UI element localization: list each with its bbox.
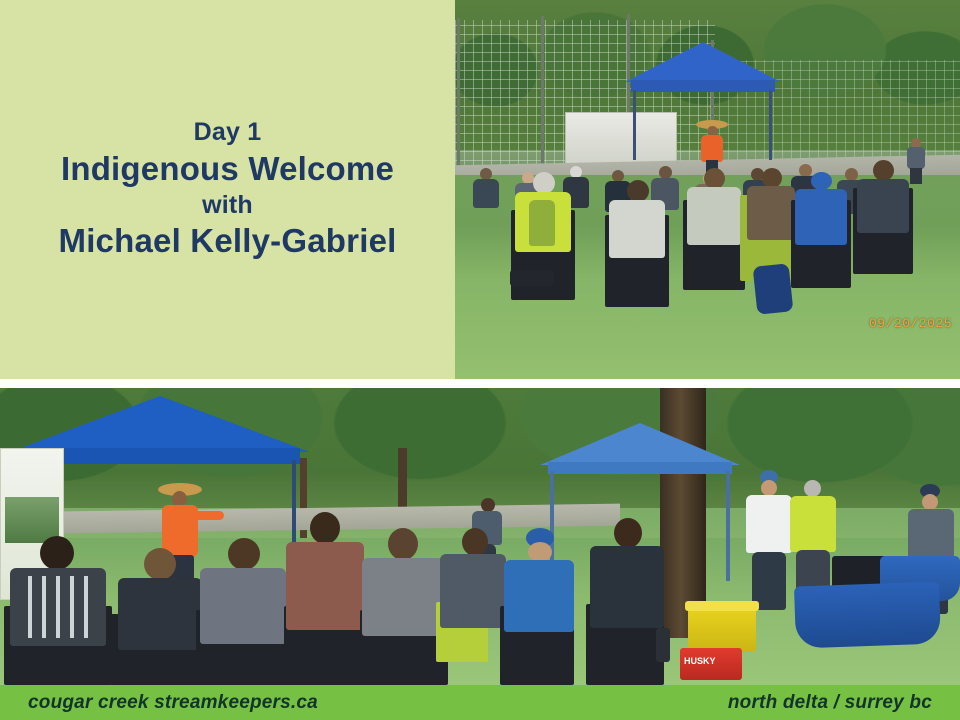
footer-bar: cougar creek streamkeepers.ca north delt…	[0, 685, 960, 720]
blue-canopy-tent	[625, 42, 780, 104]
yellow-tool-case	[688, 608, 756, 652]
torso	[857, 179, 909, 233]
baseball-cap	[811, 172, 832, 190]
blue-shirt	[504, 560, 574, 632]
head	[310, 512, 340, 544]
canopy-roof	[540, 423, 740, 465]
head	[462, 528, 488, 556]
head	[627, 180, 649, 202]
water-bottle	[656, 628, 670, 662]
head	[528, 542, 552, 562]
seated-attendee-hi-vis	[513, 172, 573, 268]
torso	[473, 179, 499, 208]
blue-wheelbarrow-front	[794, 581, 941, 648]
head	[873, 160, 894, 181]
blue-backpack	[753, 263, 794, 315]
seated-attendee	[200, 538, 286, 644]
footer-right-text: north delta / surrey bc	[728, 692, 932, 714]
seated-attendee-plaid	[286, 512, 364, 630]
fence-post	[457, 18, 460, 168]
canopy-leg	[726, 471, 730, 581]
legs	[910, 168, 922, 184]
photo-top-right: 09/20/2025	[455, 0, 960, 379]
plaid-pattern	[18, 576, 98, 638]
torso	[609, 200, 665, 258]
head	[804, 480, 821, 497]
photo-timestamp: 09/20/2025	[869, 316, 952, 331]
canopy-leg	[769, 90, 772, 160]
husky-brand-label: HUSKY	[684, 656, 716, 666]
torso	[362, 558, 444, 636]
seated-attendee-plaid	[10, 536, 106, 646]
seated-attendee	[362, 528, 444, 636]
seated-attendee	[473, 168, 499, 208]
footer-left-text: cougar creek streamkeepers.ca	[28, 692, 318, 714]
seated-attendee	[440, 528, 506, 628]
seated-attendee	[590, 518, 664, 628]
outstretched-arm	[194, 511, 224, 520]
vest-stripe	[529, 200, 555, 246]
seated-attendee	[685, 168, 743, 258]
seated-attendee-cap	[504, 528, 574, 632]
torso	[118, 578, 202, 650]
plaid-shirt	[286, 542, 364, 630]
canopy-valance	[548, 462, 732, 474]
head	[614, 518, 642, 548]
orange-shirt	[701, 135, 723, 162]
head	[704, 168, 725, 189]
standing-attendee-white-shirt	[746, 470, 792, 610]
head	[922, 494, 938, 510]
black-bag	[510, 270, 554, 286]
canopy-roof	[625, 42, 781, 82]
head	[481, 498, 495, 512]
torso	[200, 568, 286, 644]
head	[533, 172, 555, 194]
seated-attendee	[855, 160, 911, 244]
head	[762, 168, 782, 188]
hi-vis-vest	[790, 496, 836, 552]
blue-shirt	[795, 189, 847, 245]
day-label: Day 1	[194, 118, 262, 148]
torso	[908, 509, 954, 563]
seated-attendee	[118, 548, 202, 650]
head	[388, 528, 418, 560]
head	[144, 548, 176, 580]
slide-canvas: Day 1 Indigenous Welcome with Michael Ke…	[0, 0, 960, 720]
fence-post	[541, 16, 544, 168]
head	[228, 538, 260, 570]
torso	[590, 546, 664, 628]
title-panel: Day 1 Indigenous Welcome with Michael Ke…	[0, 0, 455, 379]
case-lid	[685, 601, 759, 611]
torso	[687, 187, 741, 245]
seated-attendee-cap	[793, 172, 849, 258]
canopy-leg	[633, 90, 636, 160]
with-connector: with	[202, 191, 253, 221]
head	[40, 536, 74, 570]
canopy-valance	[631, 80, 775, 92]
seated-attendee	[607, 180, 667, 272]
speaker-figure	[700, 120, 724, 172]
torso	[440, 554, 506, 628]
torso	[747, 186, 795, 240]
red-tool-box: HUSKY	[680, 648, 742, 680]
photo-bottom: HUSKY	[0, 388, 960, 685]
white-shirt	[746, 495, 792, 553]
presenter-name: Michael Kelly-Gabriel	[59, 222, 397, 261]
seated-attendee	[745, 168, 797, 252]
blue-canopy-tent-right	[540, 423, 740, 483]
head	[761, 480, 777, 496]
canopy-roof	[10, 396, 310, 452]
slide-heading: Indigenous Welcome	[61, 150, 394, 189]
